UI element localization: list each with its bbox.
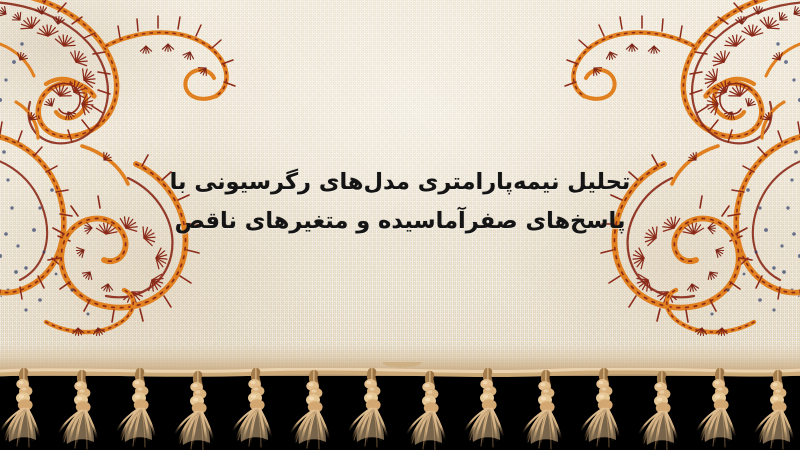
- title-line-1: تحلیل نیمه‌پارامتری مدل‌های رگرسیونی با: [0, 163, 800, 202]
- slide-title: تحلیل نیمه‌پارامتری مدل‌های رگرسیونی با …: [0, 163, 800, 241]
- title-line-2: پاسخ‌های صفرآماسیده و متغیرهای ناقص: [0, 202, 800, 241]
- slide-canvas: تحلیل نیمه‌پارامتری مدل‌های رگرسیونی با …: [0, 0, 800, 450]
- black-backdrop: [0, 370, 800, 450]
